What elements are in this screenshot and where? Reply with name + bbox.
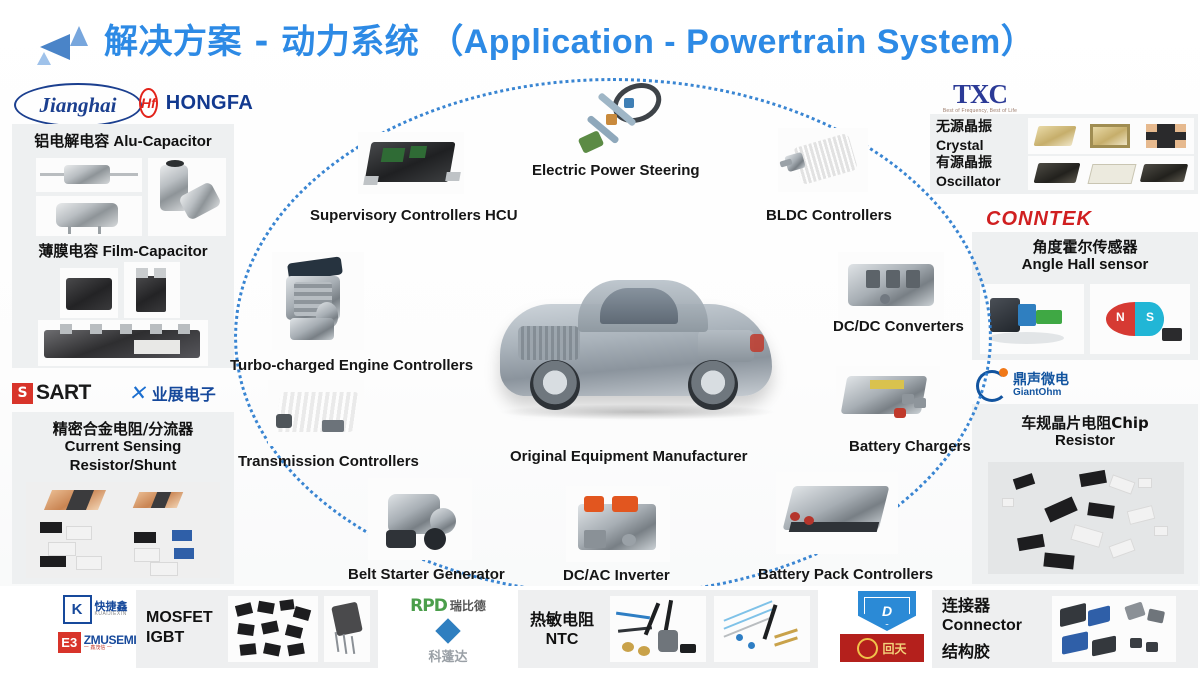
label-belt-starter-generator: Belt Starter Generator [348,566,505,583]
brand-giantohm: 鼎声微电 GiantOhm [976,370,1106,402]
huitian-mark-icon [857,638,878,659]
triangles-logo-icon [36,24,102,64]
magnet-pole-n: N [1116,310,1125,324]
hongfa-wordmark: HONGFA [166,92,253,115]
cell-mosfet-igbt: MOSFET IGBT [136,590,378,668]
capacitor-film-title: 薄膜电容 Film-Capacitor [12,242,234,261]
label-transmission-controllers: Transmission Controllers [238,453,419,470]
label-battery-chargers: Battery Chargers [849,438,971,455]
photo-supervisory-controller [358,132,464,194]
giantohm-wordmark-en: GiantOhm [1013,388,1069,399]
label-ntc: 热敏电阻 NTC [530,610,594,650]
photo-bldc-motor [778,128,868,192]
photo-ntc-sensors [714,596,810,662]
page-title-en: （Application - Powertrain System） [429,23,1035,61]
photo-alu-cap-axial [36,158,142,192]
kelengda-wordmark: 科蓬达 [428,646,467,665]
photo-oem-car-cutaway [492,268,782,428]
chip-resistor-title: 车规晶片电阻Chip Resistor [972,414,1198,451]
brand-hongfa: Hf HONGFA [140,86,252,120]
photo-mosfet-packages [228,596,318,662]
sart-wordmark: SART [36,381,91,405]
panel-txc-crystal: 无源晶振 Crystal 有源晶振 Oscillator [930,114,1198,194]
brand-txc: TXC Best of Frequency, Best of Life [932,78,1028,116]
page-title: 解决方案 - 动力系统 （Application - Powertrain Sy… [104,14,1035,63]
photo-battery-pack-controller [776,472,898,554]
label-supervisory-controllers-hcu: Supervisory Controllers HCU [310,207,518,224]
bottom-partner-strip: K 快捷鑫 KUAIJIEXIN E3 ZMUSEMI 一 鑫茂信 一 MOSF… [0,586,1200,674]
panel-chip-resistor: 车规晶片电阻Chip Resistor [972,404,1198,584]
photo-hall-magnet: N S [1090,284,1190,354]
sart-mark-icon: S [12,383,33,404]
page-title-cn: 解决方案 - 动力系统 [104,22,419,62]
photo-hall-motor [980,284,1084,354]
label-electric-power-steering: Electric Power Steering [532,162,700,179]
photo-belt-starter-generator [368,478,472,560]
current-sensing-title: 精密合金电阻/分流器 Current Sensing Resistor/Shun… [12,420,234,475]
brand-kuaijiexin: K 快捷鑫 KUAIJIEXIN [42,594,148,624]
label-bldc-controllers: BLDC Controllers [766,207,892,224]
label-structural-adhesive: 结构胶 [942,642,990,662]
photo-ntc-probes [610,596,706,662]
panel-current-sensing: 精密合金电阻/分流器 Current Sensing Resistor/Shun… [12,412,234,584]
photo-film-cap-tall [124,262,180,318]
txc-wordmark: TXC [953,81,1007,108]
giantohm-wordmark-cn: 鼎声微电 [1013,373,1069,388]
huitian-wordmark: 回天 [882,640,906,657]
photo-turbo-engine [272,252,364,350]
brand-huitian: 回天 [840,634,924,662]
kelengda-diamond-icon [435,618,460,643]
brand-sart: S SART [12,380,116,406]
yezhan-swoosh-icon: ✕ [128,381,151,406]
photo-alu-cap-snapin [36,196,142,236]
angle-hall-title: 角度霍尔传感器 Angle Hall sensor [972,238,1198,275]
photo-igbt-bridge [324,596,370,662]
conntek-wordmark: CONNTEK [986,208,1092,231]
photo-electric-power-steering [578,84,658,156]
label-dcac-inverter: DC/AC Inverter [563,567,670,584]
label-battery-pack-controllers: Battery Pack Controllers [758,566,933,583]
label-connector: 连接器 Connector [942,596,1022,636]
slide-header: 解决方案 - 动力系统 （Application - Powertrain Sy… [0,0,1200,76]
zmusemi-wordmark: ZMUSEMI [84,634,137,646]
panel-angle-hall-sensor: 角度霍尔传感器 Angle Hall sensor N S [972,232,1198,360]
photo-crystals-row1 [1028,118,1194,154]
yezhan-wordmark: 业展电子 [152,381,216,405]
ruibide-wordmark: 瑞比德 [450,597,486,614]
rpd-wordmark: RPD [410,596,447,616]
brand-jianghai: Jianghai [14,83,142,127]
capacitor-alu-title: 铝电解电容 Alu-Capacitor [12,132,234,151]
photo-dcac-inverter [566,486,670,562]
hongfa-mark-icon: Hf [139,88,158,118]
photo-dcdc-converter [838,252,944,320]
photo-connectors [1052,596,1176,662]
photo-transmission-controller [268,380,364,446]
kuaijiexin-mark-icon: K [63,595,92,624]
kuaijiexin-wordmark-en: KUAIJIEXIN [95,612,128,617]
txc-labels: 无源晶振 Crystal 有源晶振 Oscillator [936,119,1001,191]
label-turbo-charged-engine-controllers: Turbo-charged Engine Controllers [230,357,473,374]
slide-canvas: 解决方案 - 动力系统 （Application - Powertrain Sy… [0,0,1200,674]
photo-alu-cap-radial [148,158,226,236]
brand-conntek: CONNTEK [986,206,1106,232]
label-mosfet-igbt: MOSFET IGBT [146,608,213,648]
photo-battery-charger [836,366,940,432]
label-dcdc-converters: DC/DC Converters [833,318,964,335]
photo-film-cap-box [60,268,118,318]
brand-yezhan: ✕ 业展电子 [118,380,228,406]
photo-power-module [38,320,208,366]
panel-capacitors: 铝电解电容 Alu-Capacitor 薄膜电容 Film-Capacitor [12,124,234,368]
photo-shunt-resistors [26,482,220,578]
magnet-pole-s: S [1146,310,1154,324]
cell-ntc-thermistor: 热敏电阻 NTC [518,590,818,668]
photo-oscillators-row2 [1028,156,1194,190]
connector-brand-icon: D [858,591,916,631]
label-original-equipment-manufacturer: Original Equipment Manufacturer [510,448,748,465]
zmusemi-mark-icon: E3 [58,632,81,653]
txc-tagline: Best of Frequency, Best of Life [943,109,1017,114]
photo-chip-resistors [988,462,1184,574]
cell-connector-adhesive: 连接器 Connector 结构胶 [932,590,1198,668]
brand-rpd-kelengda: RPD 瑞比德 科蓬达 [386,592,510,668]
brand-connector: D [856,590,918,632]
